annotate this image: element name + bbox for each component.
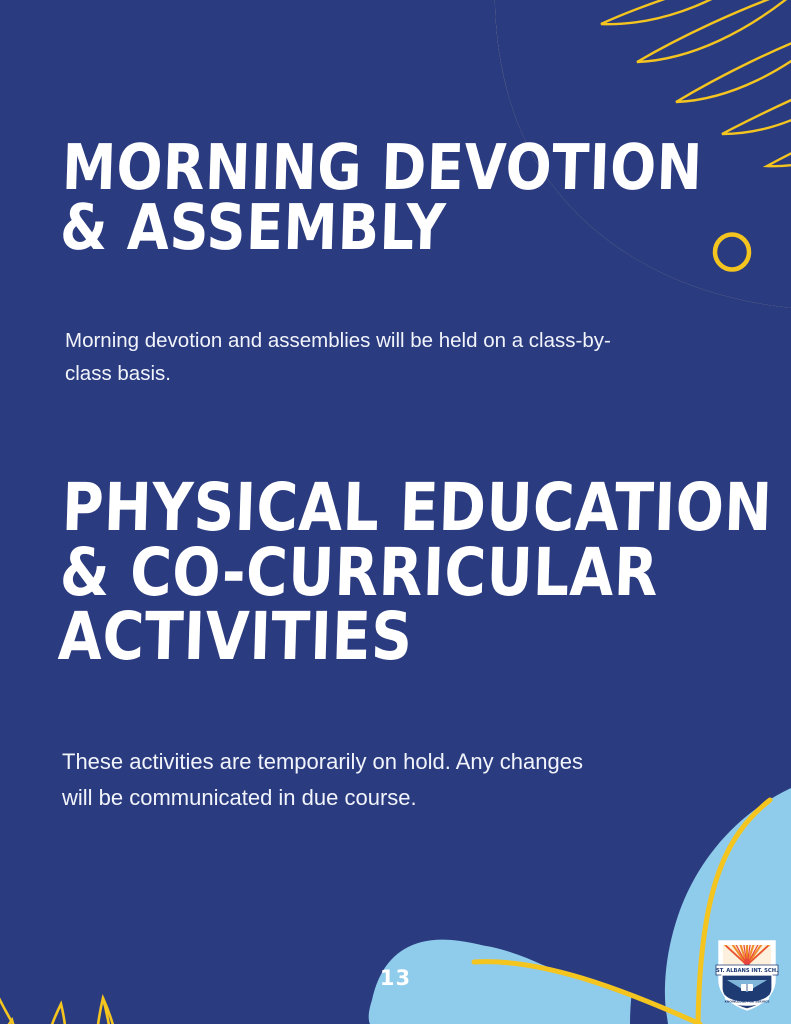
section-body-physical-education: These activities are temporarily on hold… — [62, 744, 702, 815]
section-heading-physical-education: PHYSICAL EDUCATION & CO-CURRICULAR ACTIV… — [57, 476, 791, 670]
crest-banner-text: ST. ALBANS INT. SCH. — [716, 968, 778, 974]
crest-motto-text: KNOWLEDGE FOR SERVICE — [725, 1000, 770, 1004]
crest-shield-lower: KNOWLEDGE FOR SERVICE — [722, 975, 772, 1009]
section-heading-morning-devotion: MORNING DEVOTION & ASSEMBLY — [59, 138, 751, 259]
slide-page: MORNING DEVOTION & ASSEMBLY Morning devo… — [0, 0, 791, 1024]
content-layer: MORNING DEVOTION & ASSEMBLY Morning devo… — [0, 0, 791, 1024]
crest-banner: ST. ALBANS INT. SCH. — [716, 965, 778, 975]
page-number: 13 — [0, 966, 791, 990]
section-body-morning-devotion: Morning devotion and assemblies will be … — [65, 324, 737, 390]
school-crest-logo: ST. ALBANS INT. SCH. KNOWLEDGE FOR SERVI… — [713, 936, 781, 1014]
